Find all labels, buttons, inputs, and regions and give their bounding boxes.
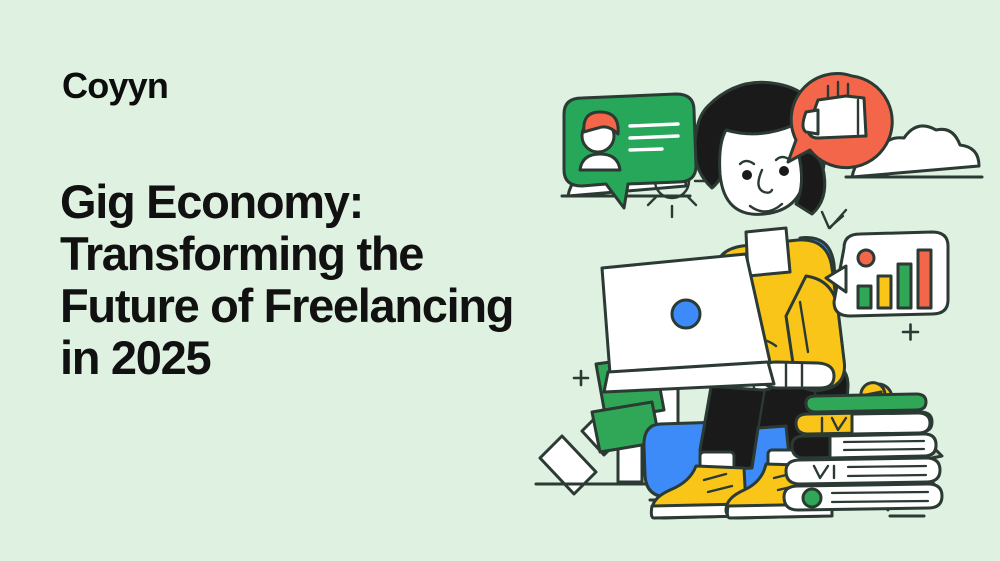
chart-bubble-white bbox=[826, 232, 948, 316]
banner-canvas: Coyyn Gig Economy: Transforming the Futu… bbox=[0, 0, 1000, 561]
small-arrow-mark bbox=[822, 210, 846, 228]
brand-logo: Coyyn bbox=[62, 68, 168, 104]
laptop bbox=[602, 254, 774, 392]
illustration: .ol { stroke:#2b3a33; stroke-width:3; st… bbox=[500, 40, 1000, 540]
chat-bubble-red bbox=[788, 74, 892, 168]
